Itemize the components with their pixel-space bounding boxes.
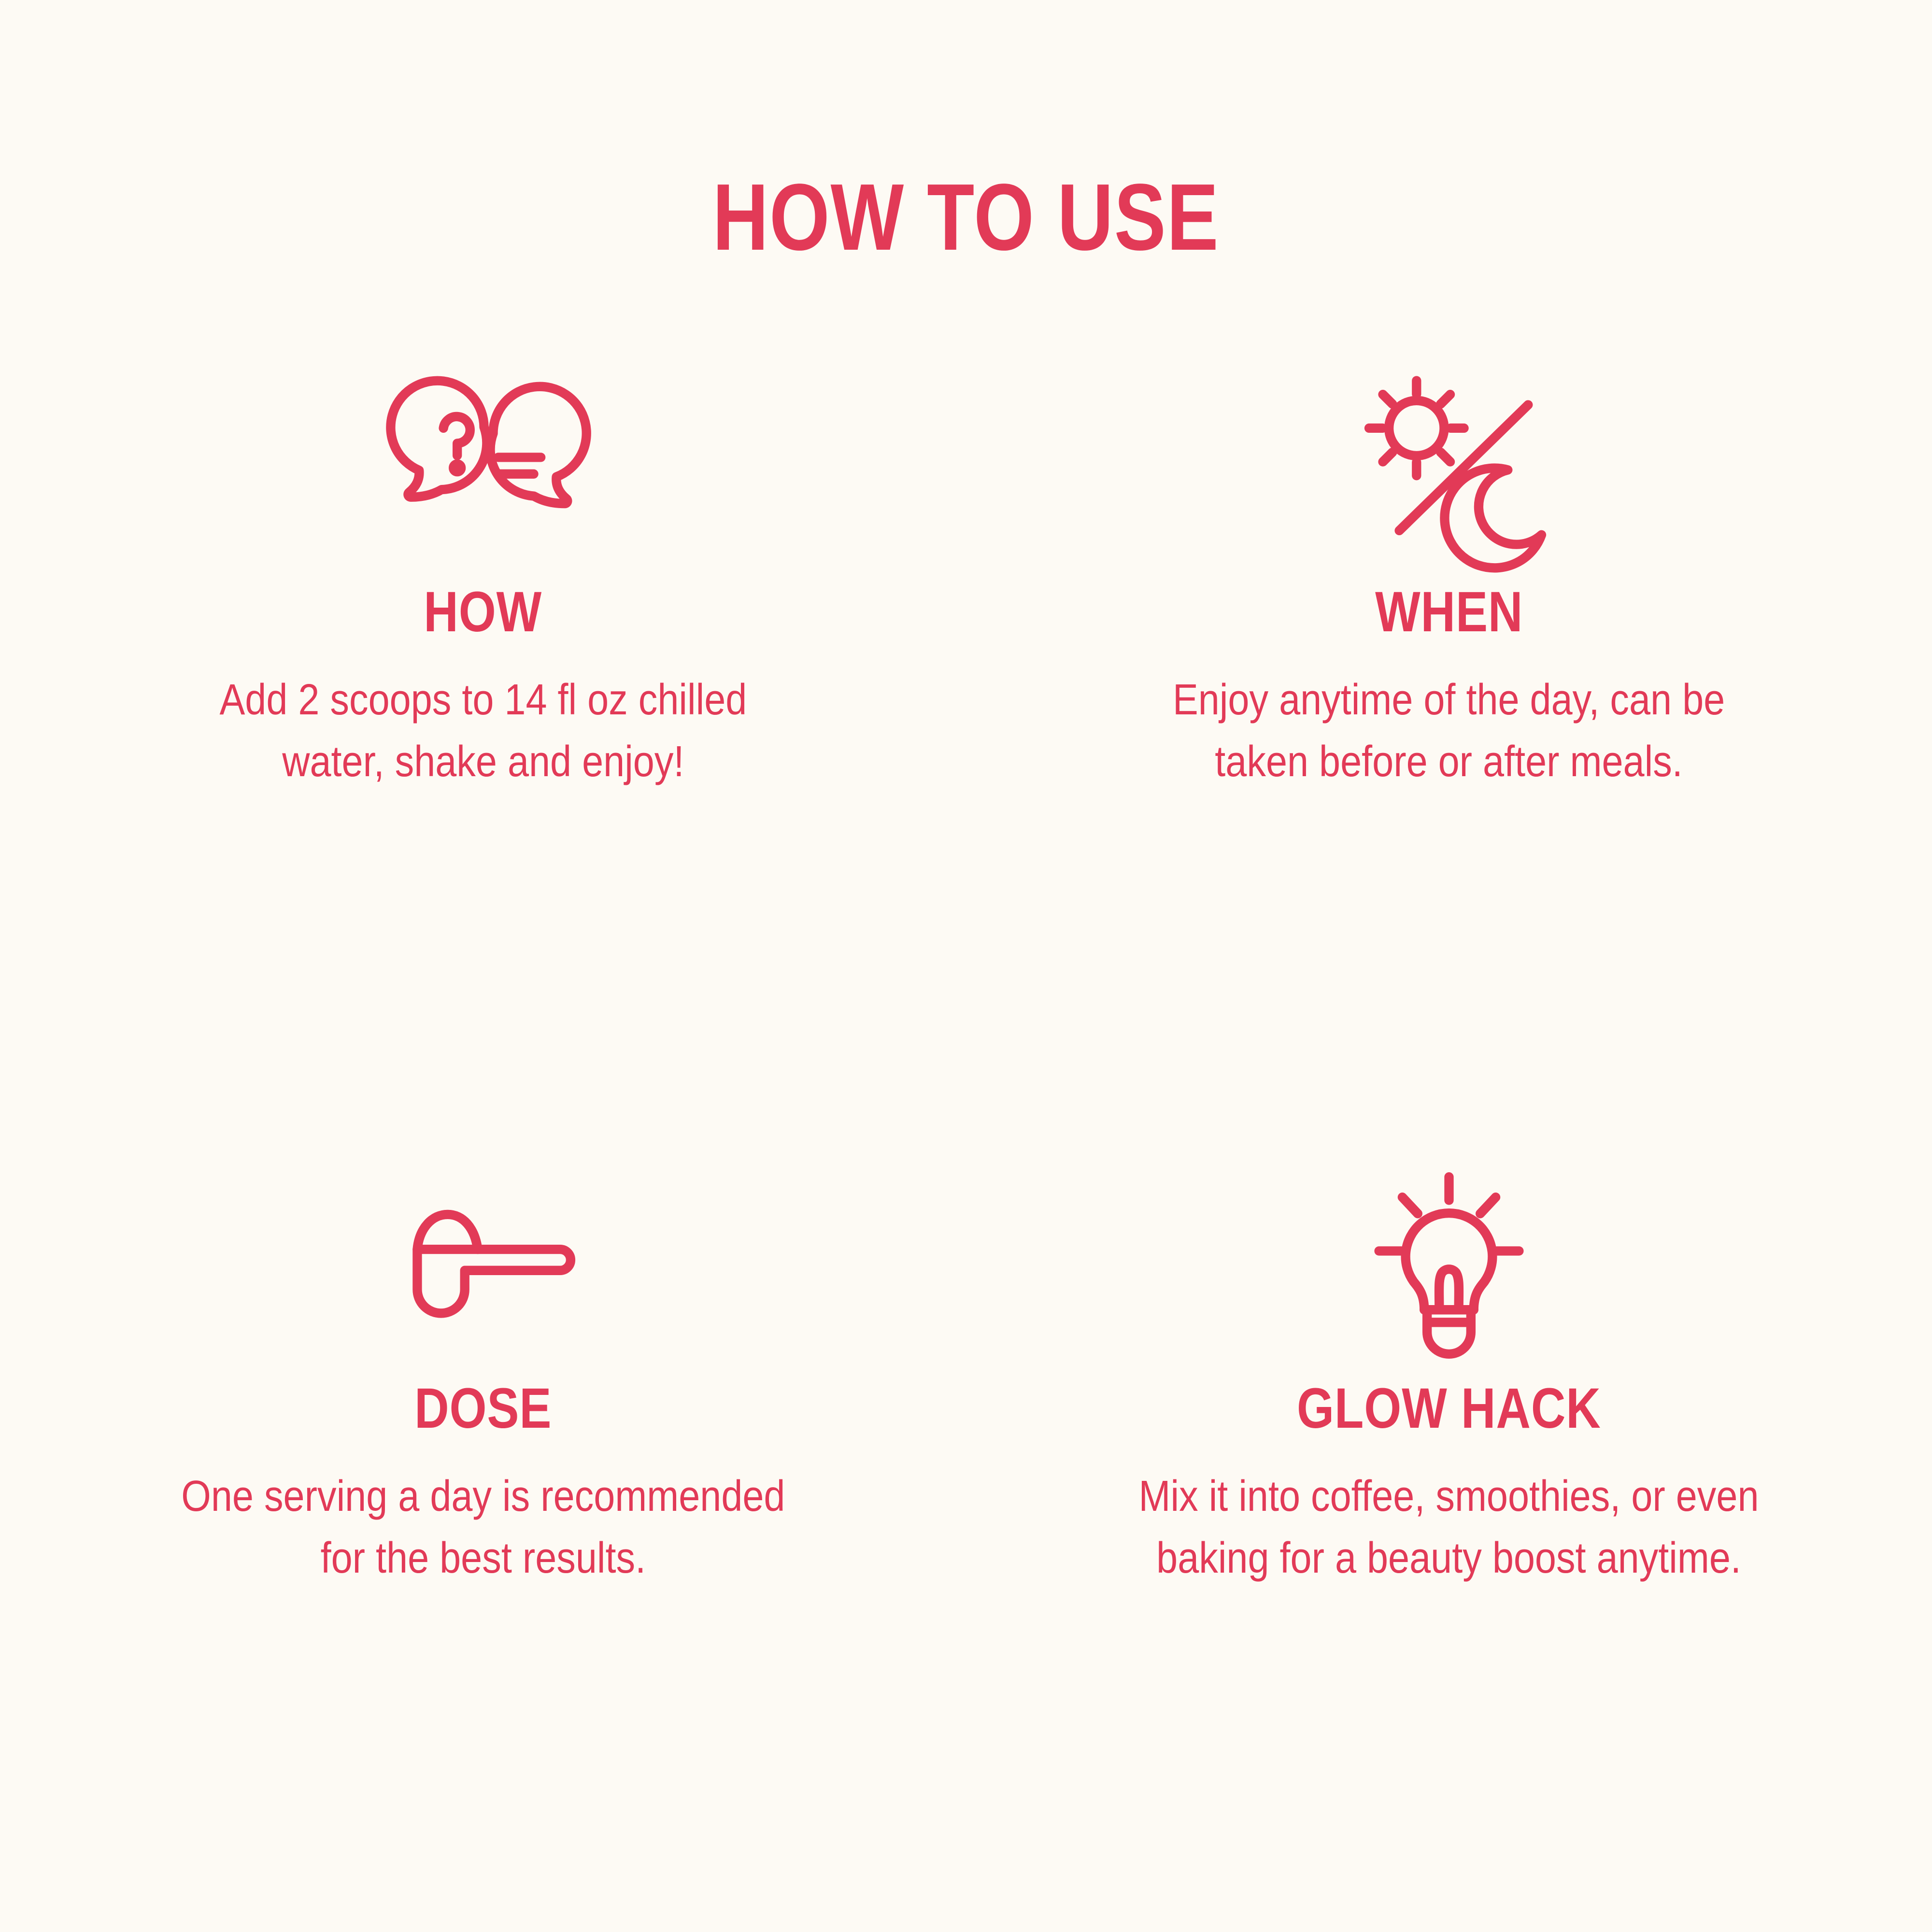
lightbulb-icon [1348, 1160, 1550, 1363]
card-glow-hack: GLOW HACK Mix it into coffee, smoothies,… [966, 1058, 1932, 1811]
card-body-when: Enjoy anytime of the day, can be taken b… [1173, 669, 1725, 793]
card-when: WHEN Enjoy anytime of the day, can be ta… [966, 305, 1932, 1058]
card-body-line: for the best results. [181, 1528, 785, 1590]
card-body-line: baking for a beauty boost anytime. [1139, 1528, 1759, 1590]
card-body-dose: One serving a day is recommended for the… [181, 1466, 785, 1590]
page-title-container: HOW TO USE [0, 170, 1932, 305]
card-body-line: One serving a day is recommended [181, 1466, 785, 1528]
card-body-glow-hack: Mix it into coffee, smoothies, or even b… [1139, 1466, 1759, 1590]
page-title: HOW TO USE [712, 170, 1219, 265]
sun-moon-icon [1348, 363, 1550, 566]
card-heading-glow-hack: GLOW HACK [1297, 1379, 1601, 1439]
instruction-grid: HOW Add 2 scoops to 14 fl oz chilled wat… [0, 305, 1932, 1932]
card-body-line: Mix it into coffee, smoothies, or even [1139, 1466, 1759, 1528]
how-to-use-poster: HOW TO USE HOW A [0, 0, 1932, 1932]
card-heading-how: HOW [424, 582, 542, 642]
card-dose: DOSE One serving a day is recommended fo… [0, 1058, 966, 1811]
card-body-line: water, shake and enjoy! [219, 731, 747, 793]
measuring-scoop-icon [382, 1160, 584, 1363]
card-body-line: Enjoy anytime of the day, can be [1173, 669, 1725, 731]
card-body-line: taken before or after meals. [1173, 731, 1725, 793]
card-body-line: Add 2 scoops to 14 fl oz chilled [219, 669, 747, 731]
card-heading-dose: DOSE [414, 1379, 552, 1439]
card-how: HOW Add 2 scoops to 14 fl oz chilled wat… [0, 305, 966, 1058]
speech-bubbles-question-icon [382, 363, 584, 566]
card-heading-when: WHEN [1375, 582, 1523, 642]
card-body-how: Add 2 scoops to 14 fl oz chilled water, … [219, 669, 747, 793]
